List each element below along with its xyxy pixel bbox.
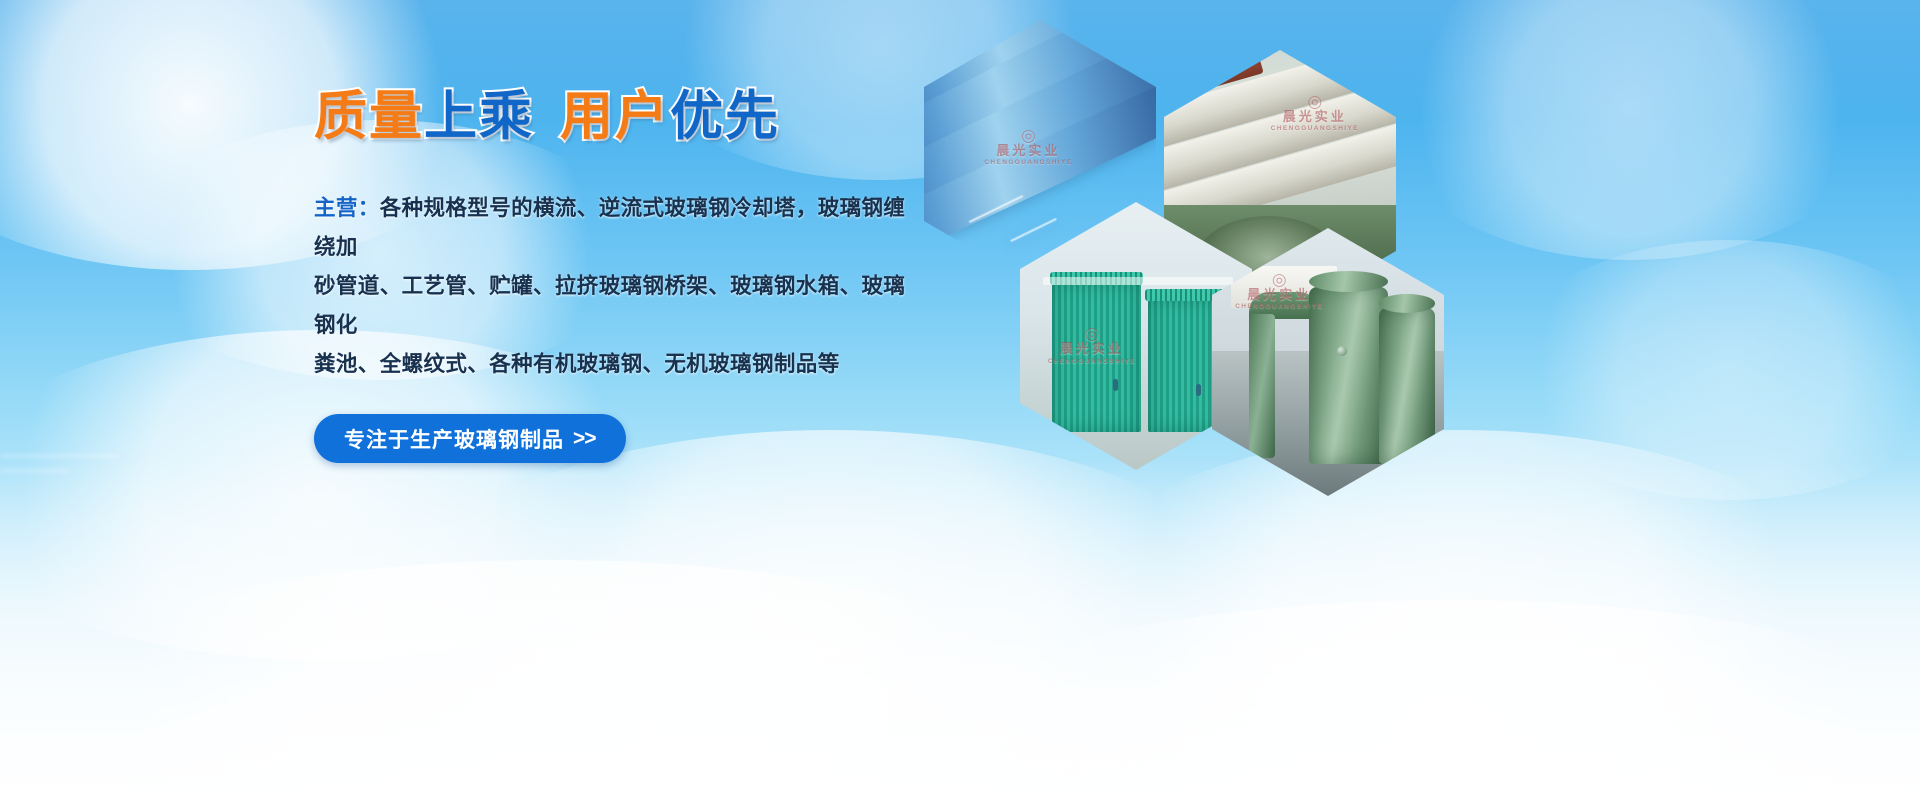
cta-button[interactable]: 专注于生产玻璃钢制品 >> (314, 414, 626, 463)
headline-segment-1: 质量 (314, 90, 424, 143)
sky-bottom-haze (0, 459, 1920, 789)
vessel-dome (1309, 271, 1388, 292)
frp-vessel (1309, 287, 1388, 464)
banner-copy: 质量上乘用户优先 主营：各种规格型号的横流、逆流式玻璃钢冷却塔，玻璃钢缠绕加 砂… (312, 90, 932, 463)
description-line-2: 砂管道、工艺管、贮罐、拉挤玻璃钢桥架、玻璃钢水箱、玻璃钢化 (314, 267, 914, 345)
pipe-highlight (1010, 218, 1057, 242)
headline-segment-4: 优先 (670, 90, 780, 143)
duct-riser (1249, 314, 1275, 459)
handrail (1043, 277, 1233, 285)
description-line-1: 主营：各种规格型号的横流、逆流式玻璃钢冷却塔，玻璃钢缠绕加 (314, 189, 914, 267)
product-photo-cluster: ◎ 晨光实业 CHENGGUANGSHIYE ◎ 晨光实业 CHENGGUAN (920, 14, 1430, 414)
headline-segment-3: 用户 (560, 90, 670, 143)
chevron-right-double-icon: >> (573, 427, 596, 451)
tower-nozzle (1113, 379, 1118, 391)
tower-nozzle (1196, 384, 1201, 396)
vessel-dome (1379, 294, 1435, 313)
description-lead: 主营： (314, 196, 380, 220)
cloud-wisp (0, 455, 120, 457)
cloud-wisp (0, 470, 70, 472)
cooling-tower (1052, 282, 1140, 432)
headline-segment-2: 上乘 (424, 90, 534, 143)
cta-label: 专注于生产玻璃钢制品 (344, 424, 564, 454)
description-line-3: 粪池、全螺纹式、各种有机玻璃钢、无机玻璃钢制品等 (314, 345, 914, 384)
description-paragraph: 主营：各种规格型号的横流、逆流式玻璃钢冷却塔，玻璃钢缠绕加 砂管道、工艺管、贮罐… (314, 189, 914, 384)
headline: 质量上乘用户优先 (314, 90, 932, 143)
promo-banner: 质量上乘用户优先 主营：各种规格型号的横流、逆流式玻璃钢冷却塔，玻璃钢缠绕加 砂… (0, 0, 1920, 789)
description-line-1-text: 各种规格型号的横流、逆流式玻璃钢冷却塔，玻璃钢缠绕加 (314, 196, 905, 259)
